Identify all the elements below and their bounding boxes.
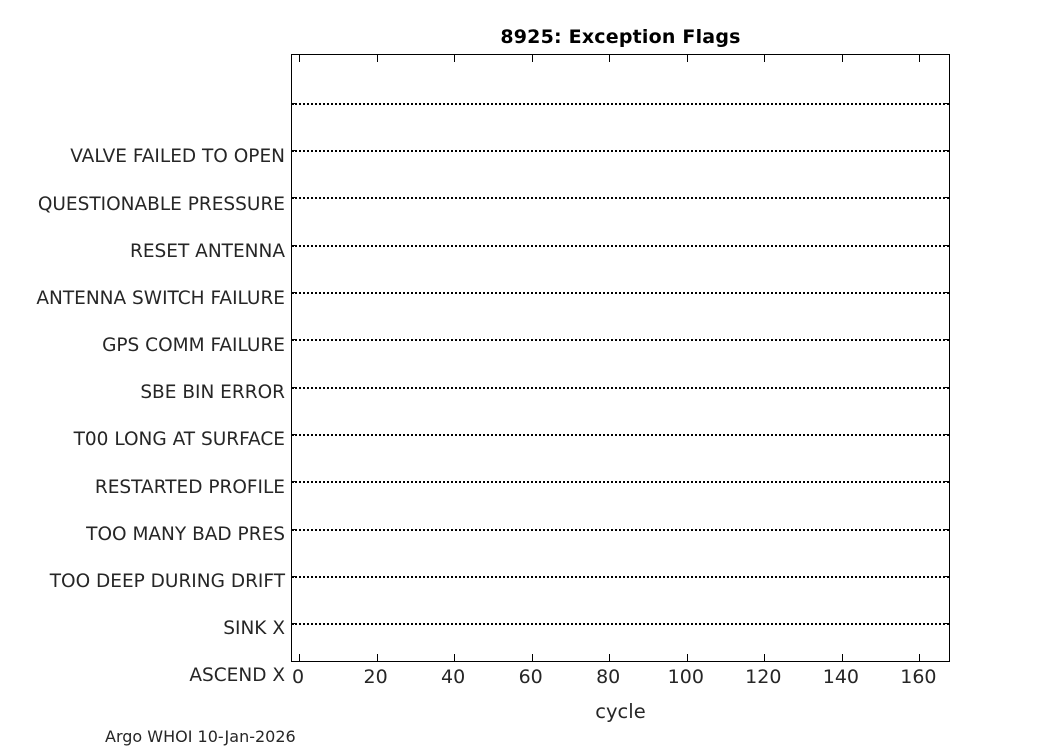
gridline-gps-comm-failure (292, 292, 949, 294)
x-tick-label-80: 80 (596, 668, 620, 687)
y-tick-mark-right (944, 481, 949, 482)
x-tick-label-120: 120 (745, 668, 781, 687)
y-tick-mark-right (944, 245, 949, 246)
gridline-reset-antenna (292, 197, 949, 199)
x-tick-label-20: 20 (364, 668, 388, 687)
gridline-ascend-x (292, 623, 949, 625)
y-tick-label-antenna-switch-failure: ANTENNA SWITCH FAILURE (36, 290, 285, 309)
y-tick-label-valve-failed-to-open: VALVE FAILED TO OPEN (70, 148, 285, 167)
y-tick-label-gps-comm-failure: GPS COMM FAILURE (102, 337, 285, 356)
x-tick-mark-top (532, 55, 533, 62)
y-tick-label-sink-x: SINK X (223, 620, 285, 639)
x-tick-mark (299, 654, 300, 661)
y-tick-label-questionable-pressure: QUESTIONABLE PRESSURE (38, 196, 285, 215)
x-tick-mark-top (454, 55, 455, 62)
x-tick-mark-top (687, 55, 688, 62)
y-tick-mark-right (944, 434, 949, 435)
gridline-too-deep-during-drift (292, 529, 949, 531)
y-tick-mark-right (944, 103, 949, 104)
y-tick-label-t00-long-at-surface: T00 LONG AT SURFACE (74, 431, 285, 450)
y-tick-label-sbe-bin-error: SBE BIN ERROR (140, 384, 285, 403)
y-tick-mark-right (944, 387, 949, 388)
x-tick-mark-top (299, 55, 300, 62)
y-tick-mark (292, 387, 297, 388)
gridline-too-many-bad-pres (292, 481, 949, 483)
y-tick-label-restarted-profile: RESTARTED PROFILE (95, 479, 285, 498)
x-tick-mark-top (609, 55, 610, 62)
x-tick-label-40: 40 (441, 668, 465, 687)
y-axis-tick-labels: VALVE FAILED TO OPEN QUESTIONABLE PRESSU… (0, 54, 285, 662)
y-tick-mark (292, 481, 297, 482)
plot-area[interactable] (291, 54, 950, 662)
y-tick-mark-right (944, 197, 949, 198)
gridline-t00-long-at-surface (292, 387, 949, 389)
x-tick-mark (377, 654, 378, 661)
y-tick-mark (292, 434, 297, 435)
x-tick-mark (764, 654, 765, 661)
x-tick-label-0: 0 (292, 668, 304, 687)
y-tick-mark (292, 576, 297, 577)
x-tick-mark (687, 654, 688, 661)
y-tick-mark-right (944, 529, 949, 530)
x-axis-title: cycle (291, 700, 950, 723)
y-tick-mark-right (944, 623, 949, 624)
y-tick-mark (292, 529, 297, 530)
x-tick-mark (609, 654, 610, 661)
x-tick-mark-top (377, 55, 378, 62)
x-tick-mark (842, 654, 843, 661)
y-tick-mark (292, 292, 297, 293)
y-tick-mark-right (944, 339, 949, 340)
figure-canvas: 8925: Exception Flags VALVE FAILED TO OP… (0, 0, 1050, 750)
x-tick-mark-top (919, 55, 920, 62)
y-tick-mark (292, 623, 297, 624)
footer-attribution: Argo WHOI 10-Jan-2026 (105, 727, 296, 746)
gridline-valve-failed-to-open (292, 103, 949, 105)
y-tick-label-too-deep-during-drift: TOO DEEP DURING DRIFT (50, 573, 285, 592)
x-tick-mark-top (842, 55, 843, 62)
x-tick-label-60: 60 (519, 668, 543, 687)
x-tick-mark (454, 654, 455, 661)
x-tick-mark (919, 654, 920, 661)
gridline-restarted-profile (292, 434, 949, 436)
y-tick-mark-right (944, 576, 949, 577)
x-tick-mark (532, 654, 533, 661)
y-tick-mark (292, 150, 297, 151)
page-title: 8925: Exception Flags (291, 26, 950, 48)
y-tick-label-ascend-x: ASCEND X (189, 667, 285, 686)
gridline-antenna-switch-failure (292, 245, 949, 247)
y-tick-label-too-many-bad-pres: TOO MANY BAD PRES (86, 526, 285, 545)
gridline-sbe-bin-error (292, 339, 949, 341)
gridline-sink-x (292, 576, 949, 578)
x-tick-label-160: 160 (900, 668, 936, 687)
x-axis-tick-labels: 0 20 40 60 80 100 120 140 160 (291, 668, 950, 696)
y-tick-label-reset-antenna: RESET ANTENNA (130, 243, 285, 262)
y-tick-mark-right (944, 150, 949, 151)
gridline-questionable-pressure (292, 150, 949, 152)
y-tick-mark (292, 245, 297, 246)
x-tick-label-140: 140 (823, 668, 859, 687)
y-tick-mark (292, 339, 297, 340)
y-tick-mark-right (944, 292, 949, 293)
y-tick-mark (292, 103, 297, 104)
y-tick-mark (292, 197, 297, 198)
x-tick-mark-top (764, 55, 765, 62)
x-tick-label-100: 100 (668, 668, 704, 687)
